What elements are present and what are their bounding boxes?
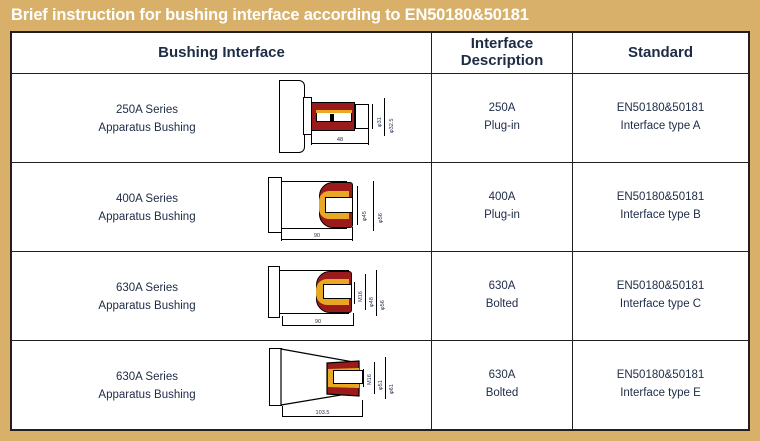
header-line: Standard xyxy=(573,45,748,62)
standard-cell: EN50180&50181 Interface type E xyxy=(573,341,749,430)
page-banner: Brief instruction for bushing interface … xyxy=(0,0,760,30)
bushing-250a-drawing: φ31 φ32.5 48 xyxy=(272,77,407,159)
bushing-name-label: 630A Series Apparatus Bushing xyxy=(52,280,242,316)
bushing-name-label: 400A Series Apparatus Bushing xyxy=(52,191,242,227)
dimension-length: 103.5 xyxy=(282,409,363,418)
dim-line-outer xyxy=(384,98,385,136)
header-line: Description xyxy=(432,53,572,70)
header-line: Bushing Interface xyxy=(12,45,431,62)
bushing-name-label: 630A Series Apparatus Bushing xyxy=(52,369,242,405)
bushing-interface-cell: 630A Series Apparatus Bushing xyxy=(12,341,432,430)
table-header: Bushing Interface Interface Description … xyxy=(12,33,749,74)
table-row: 630A Series Apparatus Bushing xyxy=(12,252,749,341)
dimension-outer-diameter: φ56 xyxy=(377,213,386,223)
interface-description-cell: 630A Bolted xyxy=(432,341,573,430)
bushing-interface-cell: 400A Series Apparatus Bushing xyxy=(12,163,432,252)
spec-table-container: Bushing Interface Interface Description … xyxy=(10,31,750,431)
standard-line: EN50180&50181 xyxy=(573,278,748,296)
interface-description-line: Bolted xyxy=(432,296,572,314)
drawing-holder: 630A Series Apparatus Bushing xyxy=(12,252,432,340)
page-title: Brief instruction for bushing interface … xyxy=(0,6,529,25)
bushing-interface-spec-page: Brief instruction for bushing interface … xyxy=(0,0,760,441)
interface-description-line: 400A xyxy=(432,189,572,207)
inner-cavity xyxy=(323,284,352,299)
standard-line: Interface type C xyxy=(573,296,748,314)
standard-line: Interface type E xyxy=(573,385,748,403)
dim-line-thread xyxy=(363,369,364,387)
dimension-outer-diameter: φ61 xyxy=(388,384,397,394)
standard-cell: EN50180&50181 Interface type A xyxy=(573,74,749,163)
dimension-length: 90 xyxy=(282,318,354,327)
table-row: 400A Series Apparatus Bushing xyxy=(12,163,749,252)
drawing-holder: 630A Series Apparatus Bushing xyxy=(12,341,432,429)
end-cap xyxy=(355,104,369,129)
inner-cavity xyxy=(325,197,353,213)
standard-line: EN50180&50181 xyxy=(573,367,748,385)
drawing-holder: 250A Series Apparatus Bushing xyxy=(12,74,432,162)
dim-line-outer xyxy=(376,270,377,316)
dim-line-inner xyxy=(357,186,358,225)
flange-plate xyxy=(268,177,282,233)
column-header-standard: Standard xyxy=(573,33,749,74)
bushing-name-line: 400A Series xyxy=(52,191,242,209)
column-header-interface-description: Interface Description xyxy=(432,33,573,74)
inner-cavity xyxy=(333,370,363,384)
dimension-inner-diameter: φ45 xyxy=(361,211,370,221)
interface-description-line: 630A xyxy=(432,367,572,385)
bushing-630a-type-e-drawing: M16 φ51 φ61 103 xyxy=(257,344,407,426)
standard-line: EN50180&50181 xyxy=(573,100,748,118)
dim-line-outer xyxy=(385,357,386,399)
dim-line-outer xyxy=(373,181,374,231)
table-row: 250A Series Apparatus Bushing xyxy=(12,74,749,163)
bushing-name-line: 630A Series xyxy=(52,369,242,387)
table-row: 630A Series Apparatus Bushing xyxy=(12,341,749,430)
bushing-name-line: 250A Series xyxy=(52,102,242,120)
conductor-bar xyxy=(316,110,352,113)
standard-cell: EN50180&50181 Interface type C xyxy=(573,252,749,341)
standard-line: Interface type A xyxy=(573,118,748,136)
dim-line-inner xyxy=(365,274,366,310)
bushing-interface-cell: 250A Series Apparatus Bushing xyxy=(12,74,432,163)
dim-line-inner xyxy=(374,362,375,394)
dimension-outer-diameter: φ32.5 xyxy=(388,118,397,133)
column-header-bushing-interface: Bushing Interface xyxy=(12,33,432,74)
header-line: Interface xyxy=(432,36,572,53)
contact-pin xyxy=(330,114,334,122)
dimension-outer-diameter: φ56 xyxy=(379,300,388,310)
bushing-name-line: Apparatus Bushing xyxy=(52,387,242,405)
table-header-row: Bushing Interface Interface Description … xyxy=(12,33,749,74)
bushing-name-line: Apparatus Bushing xyxy=(52,209,242,227)
interface-description-line: 250A xyxy=(432,100,572,118)
standard-line: Interface type B xyxy=(573,207,748,225)
bushing-400a-drawing: φ45 φ56 90 xyxy=(262,169,407,247)
bushing-interface-cell: 630A Series Apparatus Bushing xyxy=(12,252,432,341)
bushing-name-line: Apparatus Bushing xyxy=(52,298,242,316)
bushing-name-label: 250A Series Apparatus Bushing xyxy=(52,102,242,138)
bushing-630a-type-c-drawing: M16 φ48 φ56 90 xyxy=(262,258,407,336)
drawing-holder: 400A Series Apparatus Bushing xyxy=(12,163,432,251)
bushing-name-line: Apparatus Bushing xyxy=(52,120,242,138)
interface-description-line: Plug-in xyxy=(432,118,572,136)
dimension-length: 48 xyxy=(311,136,369,145)
dim-line-inner xyxy=(372,104,373,129)
standard-cell: EN50180&50181 Interface type B xyxy=(573,163,749,252)
flange-plate xyxy=(279,80,305,153)
bushing-name-line: 630A Series xyxy=(52,280,242,298)
interface-description-cell: 400A Plug-in xyxy=(432,163,573,252)
interface-description-cell: 630A Bolted xyxy=(432,252,573,341)
dimension-length: 90 xyxy=(281,232,353,241)
interface-description-cell: 250A Plug-in xyxy=(432,74,573,163)
interface-description-line: 630A xyxy=(432,278,572,296)
table-body: 250A Series Apparatus Bushing xyxy=(12,74,749,430)
interface-description-line: Bolted xyxy=(432,385,572,403)
dim-line-thread xyxy=(354,282,355,304)
bushing-spec-table: Bushing Interface Interface Description … xyxy=(11,32,749,430)
standard-line: EN50180&50181 xyxy=(573,189,748,207)
interface-description-line: Plug-in xyxy=(432,207,572,225)
